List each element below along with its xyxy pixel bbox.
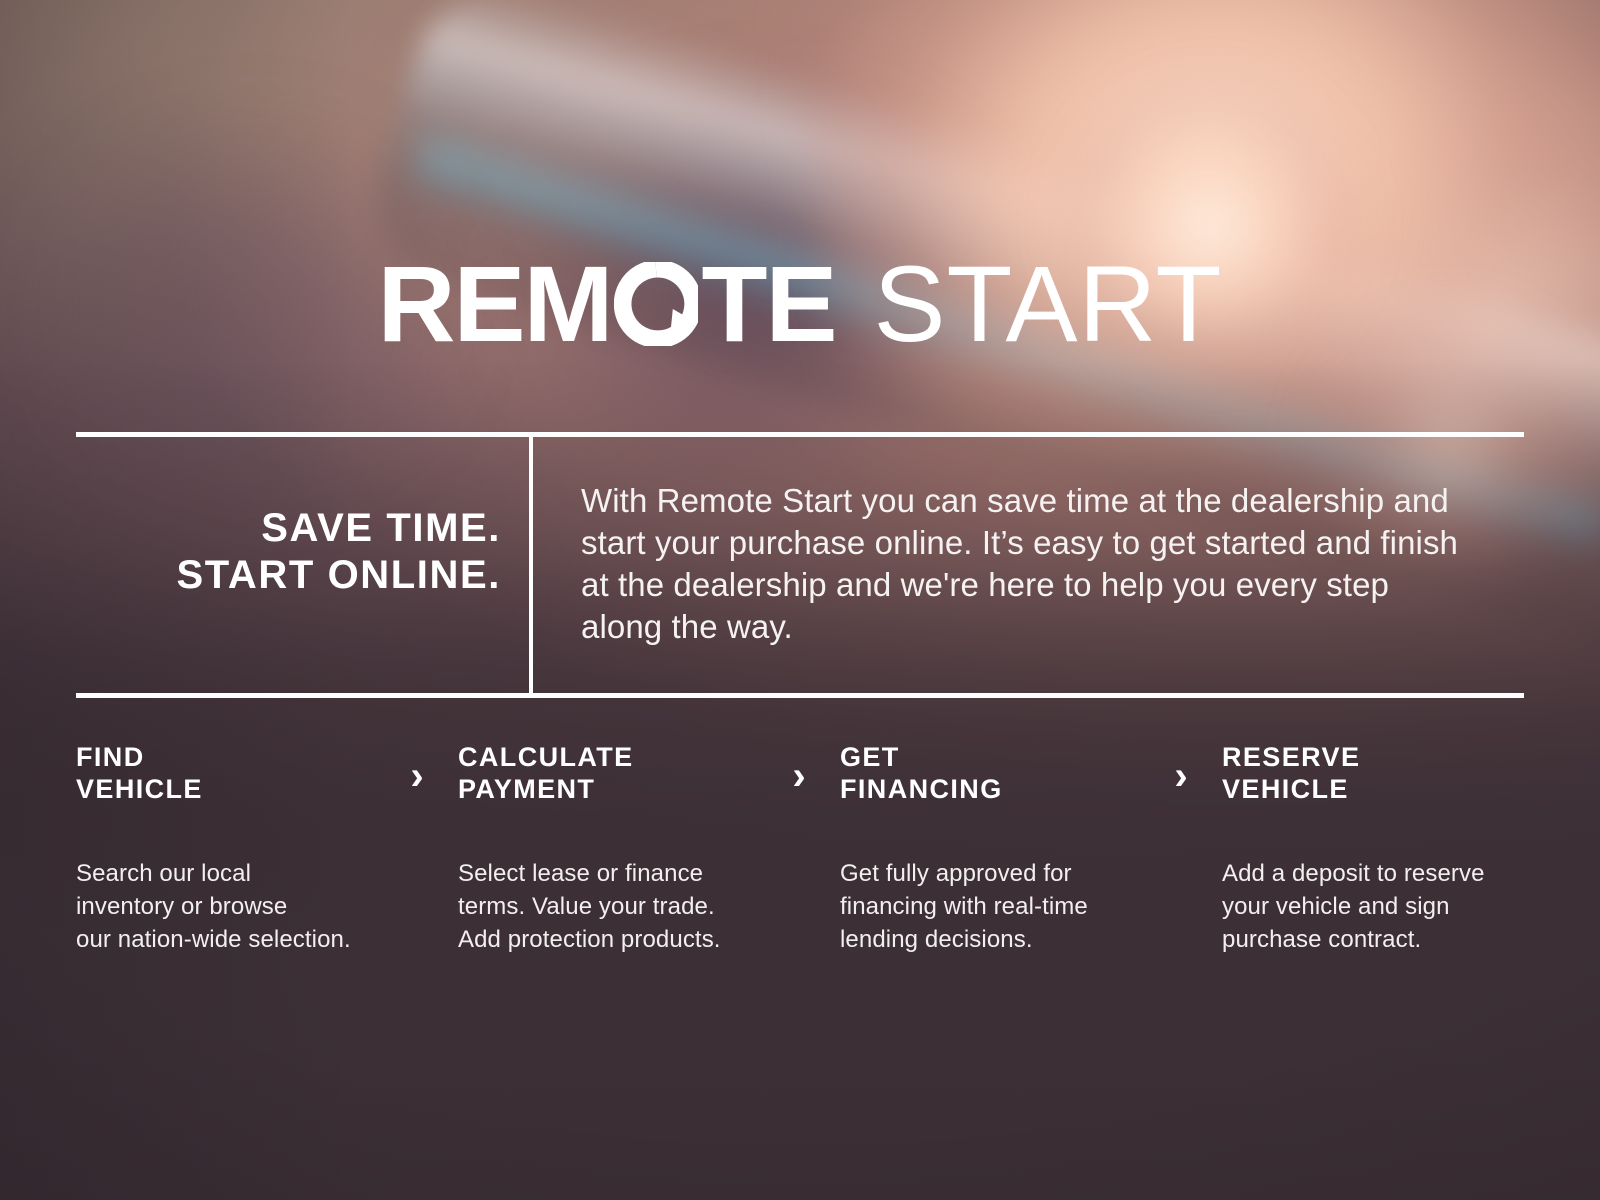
logo-remote-part2: TE <box>701 250 835 358</box>
chevron-right-icon: › <box>1174 756 1187 796</box>
step-body: Get fully approved for financing with re… <box>840 857 1140 956</box>
step-separator-1: › <box>376 742 458 796</box>
step-body: Search our local inventory or browse our… <box>76 857 376 956</box>
divider-vertical <box>529 432 533 698</box>
step-reserve-vehicle: RESERVE VEHICLE Add a deposit to reserve… <box>1222 742 1522 956</box>
chevron-right-icon: › <box>410 756 423 796</box>
logo-remote: REM TE <box>377 250 835 358</box>
headline-line-1: SAVE TIME. <box>76 505 501 552</box>
logo: REM TE START <box>0 244 1600 364</box>
step-body: Select lease or finance terms. Value you… <box>458 857 758 956</box>
intro-paragraph: With Remote Start you can save time at t… <box>581 480 1471 648</box>
step-get-financing: GET FINANCING Get fully approved for fin… <box>840 742 1140 956</box>
step-title: CALCULATE PAYMENT <box>458 742 758 805</box>
circular-restart-arrow-icon <box>614 262 698 346</box>
step-title: GET FINANCING <box>840 742 1140 805</box>
step-title: RESERVE VEHICLE <box>1222 742 1522 805</box>
divider-bottom <box>76 693 1524 698</box>
steps-row: FIND VEHICLE Search our local inventory … <box>76 742 1524 956</box>
chevron-right-icon: › <box>792 756 805 796</box>
step-find-vehicle: FIND VEHICLE Search our local inventory … <box>76 742 376 956</box>
step-calculate-payment: CALCULATE PAYMENT Select lease or financ… <box>458 742 758 956</box>
step-title: FIND VEHICLE <box>76 742 376 805</box>
logo-start: START <box>873 250 1222 358</box>
remote-start-banner: REM TE START SAVE TIME. START ONLINE. Wi… <box>0 0 1600 1200</box>
divider-top <box>76 432 1524 437</box>
headline-line-2: START ONLINE. <box>76 552 501 599</box>
step-separator-2: › <box>758 742 840 796</box>
headline: SAVE TIME. START ONLINE. <box>76 505 501 599</box>
logo-remote-part1: REM <box>377 250 611 358</box>
step-separator-3: › <box>1140 742 1222 796</box>
step-body: Add a deposit to reserve your vehicle an… <box>1222 857 1522 956</box>
